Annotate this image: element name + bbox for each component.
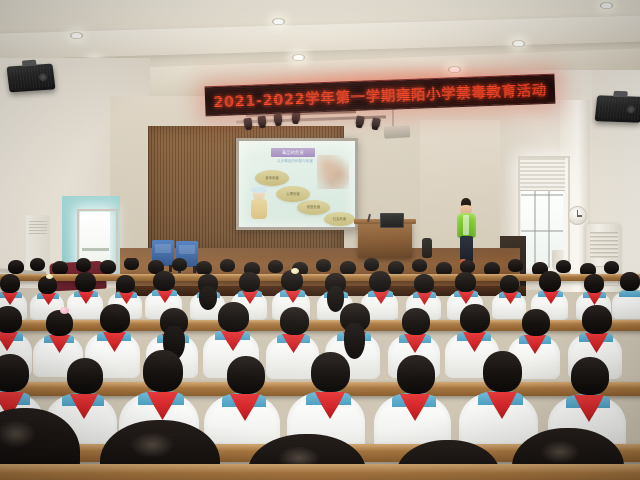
ceiling-downlight-icon bbox=[272, 18, 285, 25]
slide-bubble-label: 社会危害 bbox=[331, 217, 349, 221]
slide-bubble-label: 身体危害 bbox=[263, 176, 281, 180]
slide-title-bar: 毒品的危害 bbox=[271, 148, 315, 157]
photo-scene: 毒品的危害 认识毒品的种类与危害 身体危害 心理危害 家庭危害 社会危害 bbox=[0, 0, 640, 480]
slide-bubble: 身体危害 bbox=[255, 170, 289, 186]
door-rail bbox=[82, 248, 109, 251]
wall-clock-icon bbox=[568, 206, 587, 225]
projection-screen-frame: 毒品的危害 认识毒品的种类与危害 身体危害 心理危害 家庭危害 社会危害 bbox=[236, 138, 358, 230]
stage-light-icon bbox=[243, 117, 252, 128]
stage-light-icon bbox=[274, 114, 283, 125]
slide-subtitle: 认识毒品的种类与危害 bbox=[267, 159, 323, 164]
wall-speaker-icon bbox=[6, 63, 55, 92]
projection-screen: 毒品的危害 认识毒品的种类与危害 身体危害 心理危害 家庭危害 社会危害 bbox=[239, 141, 355, 227]
slide-cartoon-character bbox=[248, 189, 270, 221]
presenter bbox=[455, 198, 477, 262]
projector bbox=[384, 125, 411, 138]
slide-bubble-label: 心理危害 bbox=[284, 192, 302, 196]
stage-light-icon bbox=[291, 112, 300, 123]
stage-light-icon bbox=[257, 116, 266, 127]
bench bbox=[0, 464, 640, 480]
slide-bubble: 家庭危害 bbox=[297, 200, 330, 215]
slide-bubble: 心理危害 bbox=[276, 186, 310, 202]
slide-bubble: 社会危害 bbox=[324, 212, 355, 226]
ceiling-downlight-icon bbox=[70, 32, 83, 39]
presenter-vest-opening bbox=[463, 215, 469, 235]
stage-equipment-stand bbox=[422, 238, 432, 258]
laptop-monitor bbox=[380, 213, 404, 228]
ceiling-downlight-icon bbox=[600, 2, 613, 9]
audience-area bbox=[0, 258, 640, 480]
slide-subtitle-text: 认识毒品的种类与危害 bbox=[277, 159, 313, 164]
ceiling-downlight-icon bbox=[292, 54, 305, 61]
slide-bubble-label: 家庭危害 bbox=[305, 205, 323, 209]
ceiling-downlight-icon bbox=[512, 40, 525, 47]
slide-title-text: 毒品的危害 bbox=[282, 150, 304, 156]
wall-speaker-icon bbox=[595, 95, 640, 122]
slide-illustration bbox=[317, 155, 349, 189]
